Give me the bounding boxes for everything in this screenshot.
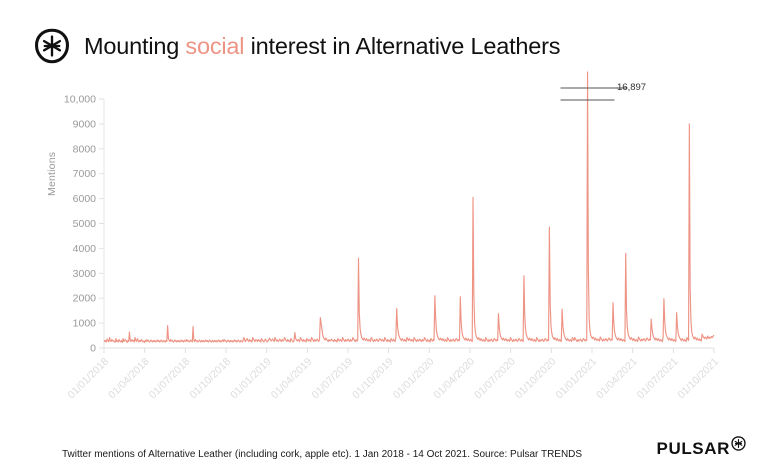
- y-tick-label: 6000: [73, 193, 97, 205]
- y-tick-label: 0: [90, 343, 96, 355]
- x-tick-label: 01/01/2019: [228, 356, 274, 402]
- axis-spines: [104, 99, 714, 348]
- y-tick-label: 7000: [73, 168, 97, 180]
- y-tick-label: 1000: [73, 318, 97, 330]
- brand-wordmark: PULSAR: [657, 440, 731, 457]
- y-tick-label: 8000: [73, 143, 97, 155]
- x-tick-label: 01/01/2020: [391, 356, 437, 402]
- x-tick-label: 01/01/2021: [553, 356, 599, 402]
- x-tick-label: 01/07/2018: [147, 356, 193, 402]
- x-tick-label: 01/04/2021: [594, 356, 640, 402]
- x-tick-label: 01/07/2021: [635, 356, 681, 402]
- x-tick-label: 01/07/2019: [309, 356, 355, 402]
- pulsar-brand-lockup: PULSAR: [657, 440, 747, 457]
- y-tick-label: 2000: [73, 293, 97, 305]
- x-tick-label: 01/04/2018: [106, 356, 152, 402]
- peak-value-annotation: 16,897: [617, 82, 646, 93]
- y-tick-label: 3000: [73, 268, 97, 280]
- y-tick-label: 4000: [73, 243, 97, 255]
- mentions-line-path: [104, 72, 714, 343]
- x-tick-label: 01/10/2018: [187, 356, 233, 402]
- x-tick-label: 01/10/2020: [513, 356, 559, 402]
- chart-page: Mounting social interest in Alternative …: [0, 0, 768, 475]
- x-tick-label: 01/10/2019: [350, 356, 396, 402]
- x-axis-tick-labels: 01/01/201801/04/201801/07/201801/10/2018…: [65, 356, 721, 402]
- y-tick-label: 10,000: [64, 94, 96, 106]
- chart-container: 010002000300040005000600070008000900010,…: [0, 0, 768, 430]
- source-caption: Twitter mentions of Alternative Leather …: [62, 449, 582, 460]
- x-tick-label: 01/10/2021: [675, 356, 721, 402]
- x-tick-label: 01/07/2020: [472, 356, 518, 402]
- mentions-series-line: [104, 72, 714, 343]
- x-axis-tick-marks: [104, 348, 714, 353]
- y-tick-label: 5000: [73, 218, 97, 230]
- y-tick-label: 9000: [73, 118, 97, 130]
- mentions-timeseries-chart: 010002000300040005000600070008000900010,…: [0, 0, 768, 430]
- x-tick-label: 01/04/2019: [269, 356, 315, 402]
- x-tick-label: 01/04/2020: [431, 356, 477, 402]
- x-tick-label: 01/01/2018: [65, 356, 111, 402]
- pulsar-starburst-shield-icon: [731, 436, 746, 451]
- y-axis-tick-labels: 010002000300040005000600070008000900010,…: [64, 94, 104, 355]
- y-axis-title: Mentions: [46, 152, 58, 196]
